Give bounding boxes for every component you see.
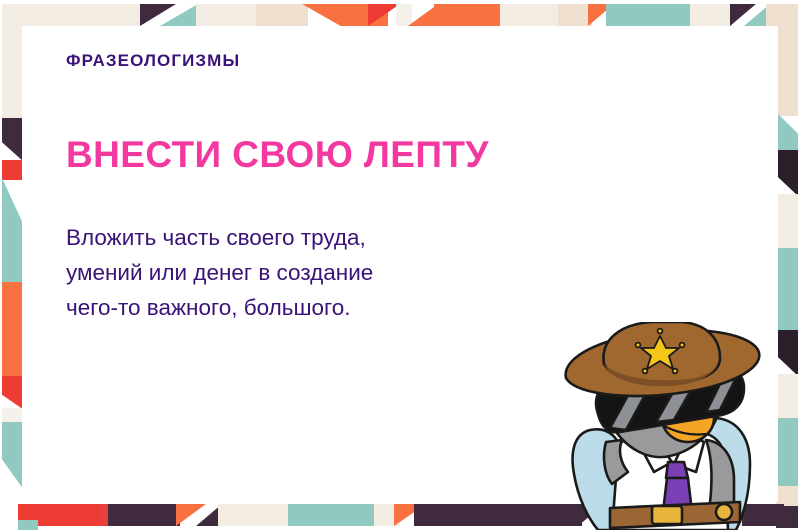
frame-bottom-seg-teal-1 — [288, 504, 378, 526]
frame-right-seg-teal-1 — [776, 112, 798, 160]
frame-bottom-seg-plum-1 — [108, 504, 180, 526]
frame-top-seg-orange-4 — [588, 4, 614, 26]
frame-top-seg-teal-2 — [606, 4, 692, 26]
pigeon-sheriff-mascot — [548, 322, 798, 530]
page-title: ВНЕСТИ СВОЮ ЛЕПТУ — [66, 135, 626, 176]
frame-right-seg-warm-1 — [776, 4, 798, 116]
frame-left-seg-plum-1 — [2, 118, 24, 162]
category-label: ФРАЗЕОЛОГИЗМЫ — [66, 52, 626, 71]
frame-top-seg-orange-1 — [302, 4, 388, 26]
frame-top-seg-red-1 — [368, 4, 400, 26]
frame-top-seg-plum-2 — [730, 4, 756, 26]
frame-top-seg-orange-3 — [434, 4, 502, 26]
belt-stud — [716, 504, 732, 520]
frame-left-seg-red-1 — [2, 160, 24, 180]
frame-top-seg-cream-5 — [690, 4, 732, 26]
frame-top-seg-cream-4 — [500, 4, 560, 26]
frame-bottom-seg-teal-2 — [18, 520, 38, 530]
frame-bottom-seg-plum-2 — [196, 504, 222, 526]
frame-top-seg-cream-3 — [396, 4, 412, 26]
frame-right-seg-plum-1 — [776, 150, 798, 196]
frame-top-seg-warm-3 — [766, 4, 796, 26]
frame-top-seg-warm-1 — [256, 4, 308, 26]
frame-top-seg-warm-2 — [558, 4, 592, 26]
frame-right-seg-teal-2 — [776, 248, 798, 332]
frame-top-seg-cream-1 — [22, 4, 140, 26]
description-line-3: чего-то важного, большого. — [66, 291, 626, 326]
frame-top-seg-cream-2 — [196, 4, 258, 26]
description-line-2: умений или денег в создание — [66, 256, 626, 291]
frame-bottom-seg-orange-1 — [176, 504, 206, 526]
frame-bottom-seg-red-1 — [18, 504, 106, 526]
frame-bottom-seg-orange-2 — [394, 504, 426, 526]
description-text: Вложить часть своего труда, умений или д… — [66, 221, 626, 326]
frame-left-seg-teal-1 — [2, 178, 24, 284]
necktie-knot — [666, 462, 688, 478]
frame-top-seg-teal-3 — [744, 4, 770, 26]
frame-left-seg-orange-1 — [2, 282, 24, 378]
frame-bottom-seg-red-2 — [100, 504, 110, 526]
description-line-1: Вложить часть своего труда, — [66, 221, 626, 256]
frame-left-seg-red-2 — [2, 376, 24, 410]
frame-left-seg-cream-1 — [2, 4, 24, 122]
frame-bottom-seg-cream-1 — [218, 504, 292, 526]
text-content: ФРАЗЕОЛОГИЗМЫ ВНЕСТИ СВОЮ ЛЕПТУ Вложить … — [66, 52, 626, 326]
frame-right-seg-cream-1 — [776, 194, 798, 250]
frame-top-seg-plum — [140, 4, 176, 26]
belt-buckle — [652, 506, 682, 524]
frame-left-seg-teal-2 — [2, 422, 24, 490]
frame-left-seg-cream-2 — [2, 408, 24, 426]
frame-top-seg-teal-1 — [160, 4, 198, 26]
poster-root: ФРАЗЕОЛОГИЗМЫ ВНЕСТИ СВОЮ ЛЕПТУ Вложить … — [0, 0, 800, 530]
frame-top-seg-orange-2 — [408, 4, 438, 26]
frame-bottom-seg-cream-2 — [374, 504, 400, 526]
